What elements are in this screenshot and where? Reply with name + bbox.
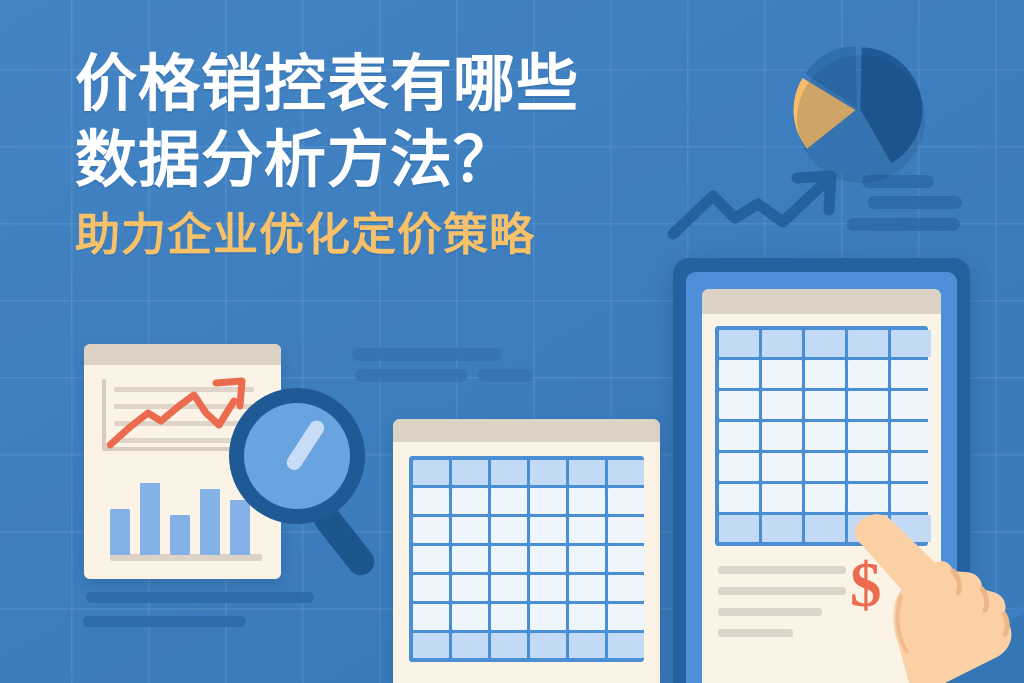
deco-bar-mid-left-2 <box>355 369 467 382</box>
center-table-cell-r2-c6[interactable] <box>608 488 644 514</box>
center-table-cell-r2-c2[interactable] <box>452 488 488 514</box>
center-table-cell-r6-c6[interactable] <box>608 604 644 630</box>
report-line-path <box>110 395 234 445</box>
report-bar-3 <box>170 515 190 555</box>
center-table-cell-r2-c4[interactable] <box>530 488 566 514</box>
tablet-table-cell-r5-c4[interactable] <box>848 453 888 481</box>
pricing-control-sheet-card <box>393 419 660 683</box>
center-table-cell-r1-c5[interactable] <box>569 460 605 485</box>
center-table-cell-r3-c6[interactable] <box>608 517 644 543</box>
report-bar-2 <box>140 483 160 555</box>
tablet-text-line-2 <box>718 587 846 595</box>
center-table-cell-r4-c3[interactable] <box>491 546 527 572</box>
tablet-table-cell-r3-c4[interactable] <box>848 391 888 419</box>
pointing-hand-icon <box>845 496 1024 683</box>
center-table-cell-r7-c5[interactable] <box>569 633 605 658</box>
center-table-cell-r6-c3[interactable] <box>491 604 527 630</box>
report-bar-1 <box>110 509 130 555</box>
tablet-table-cell-r7-c3[interactable] <box>805 515 845 542</box>
center-table-cell-r3-c5[interactable] <box>569 517 605 543</box>
tablet-table-cell-r6-c3[interactable] <box>805 484 845 512</box>
tablet-table-cell-r1-c4[interactable] <box>848 330 888 357</box>
tablet-table-cell-r1-c1[interactable] <box>719 330 759 357</box>
center-table-cell-r7-c6[interactable] <box>608 633 644 658</box>
tablet-table-cell-r1-c2[interactable] <box>762 330 802 357</box>
center-table-cell-r1-c1[interactable] <box>413 460 449 485</box>
tablet-table-cell-r4-c5[interactable] <box>891 422 931 450</box>
center-table-cell-r6-c5[interactable] <box>569 604 605 630</box>
center-table-cell-r4-c5[interactable] <box>569 546 605 572</box>
center-table-cell-r7-c1[interactable] <box>413 633 449 658</box>
tablet-table-cell-r3-c3[interactable] <box>805 391 845 419</box>
tablet-table-cell-r4-c4[interactable] <box>848 422 888 450</box>
deco-bar-bottom-1 <box>86 592 314 603</box>
tablet-table-cell-r2-c4[interactable] <box>848 360 888 388</box>
pie-chart <box>793 47 928 182</box>
tablet-table-cell-r4-c1[interactable] <box>719 422 759 450</box>
tablet-table-cell-r5-c2[interactable] <box>762 453 802 481</box>
tablet-table-cell-r4-c3[interactable] <box>805 422 845 450</box>
center-table-cell-r3-c1[interactable] <box>413 517 449 543</box>
tablet-table-cell-r5-c3[interactable] <box>805 453 845 481</box>
center-table-cell-r7-c4[interactable] <box>530 633 566 658</box>
pie-chart-shadow <box>797 55 925 183</box>
center-table-cell-r1-c4[interactable] <box>530 460 566 485</box>
tablet-table-cell-r7-c1[interactable] <box>719 515 759 542</box>
tablet-table-cell-r6-c2[interactable] <box>762 484 802 512</box>
tablet-table-cell-r2-c2[interactable] <box>762 360 802 388</box>
center-table-cell-r4-c1[interactable] <box>413 546 449 572</box>
center-table-cell-r5-c1[interactable] <box>413 575 449 601</box>
center-table-cell-r5-c4[interactable] <box>530 575 566 601</box>
center-table-cell-r7-c3[interactable] <box>491 633 527 658</box>
tablet-table-cell-r3-c2[interactable] <box>762 391 802 419</box>
tablet-table-cell-r3-c1[interactable] <box>719 391 759 419</box>
tablet-table-cell-r2-c5[interactable] <box>891 360 931 388</box>
deco-bar-mid-left-3 <box>478 369 533 382</box>
center-table-cell-r6-c2[interactable] <box>452 604 488 630</box>
tablet-table-cell-r1-c5[interactable] <box>891 330 931 357</box>
tablet-table-cell-r2-c3[interactable] <box>805 360 845 388</box>
tablet-text-line-4 <box>718 629 793 637</box>
poster-canvas: 价格销控表有哪些 数据分析方法？ 助力企业优化定价策略 <box>0 0 1024 683</box>
center-table-cell-r1-c2[interactable] <box>452 460 488 485</box>
center-table-cell-r4-c6[interactable] <box>608 546 644 572</box>
center-table-cell-r3-c4[interactable] <box>530 517 566 543</box>
deco-bar-top-right-3 <box>847 218 960 231</box>
trend-arrow-line <box>673 182 825 234</box>
tablet-table-cell-r4-c2[interactable] <box>762 422 802 450</box>
center-table-cell-r1-c3[interactable] <box>491 460 527 485</box>
deco-bar-mid-left-1 <box>352 348 502 361</box>
tablet-table-cell-r7-c2[interactable] <box>762 515 802 542</box>
report-header-bar <box>84 344 281 365</box>
tablet-text-line-3 <box>718 608 822 616</box>
center-table-cell-r3-c3[interactable] <box>491 517 527 543</box>
tablet-table-cell-r2-c1[interactable] <box>719 360 759 388</box>
deco-bar-bottom-2 <box>83 616 246 627</box>
tablet-table-cell-r6-c1[interactable] <box>719 484 759 512</box>
center-table-cell-r2-c3[interactable] <box>491 488 527 514</box>
sheet-header-bar <box>393 419 660 442</box>
center-table-cell-r6-c4[interactable] <box>530 604 566 630</box>
deco-bar-top-right-2 <box>868 196 962 209</box>
tablet-text-line-1 <box>718 566 846 574</box>
center-table-cell-r1-c6[interactable] <box>608 460 644 485</box>
center-table-cell-r2-c5[interactable] <box>569 488 605 514</box>
tablet-table-cell-r3-c5[interactable] <box>891 391 931 419</box>
trend-arrow-chart <box>665 166 855 246</box>
center-table-cell-r5-c3[interactable] <box>491 575 527 601</box>
headline-line-1: 价格销控表有哪些 <box>75 47 795 123</box>
tablet-document-header <box>702 289 941 314</box>
tablet-table-cell-r5-c5[interactable] <box>891 453 931 481</box>
report-bar-4 <box>200 489 220 555</box>
center-table[interactable] <box>409 456 644 662</box>
tablet-table-cell-r5-c1[interactable] <box>719 453 759 481</box>
center-table-cell-r5-c5[interactable] <box>569 575 605 601</box>
center-table-cell-r6-c1[interactable] <box>413 604 449 630</box>
center-table-cell-r5-c2[interactable] <box>452 575 488 601</box>
tablet-table-cell-r1-c3[interactable] <box>805 330 845 357</box>
magnifying-glass-icon <box>224 383 399 583</box>
center-table-cell-r7-c2[interactable] <box>452 633 488 658</box>
center-table-cell-r4-c4[interactable] <box>530 546 566 572</box>
center-table-cell-r2-c1[interactable] <box>413 488 449 514</box>
center-table-cell-r3-c2[interactable] <box>452 517 488 543</box>
center-table-cell-r5-c6[interactable] <box>608 575 644 601</box>
center-table-cell-r4-c2[interactable] <box>452 546 488 572</box>
